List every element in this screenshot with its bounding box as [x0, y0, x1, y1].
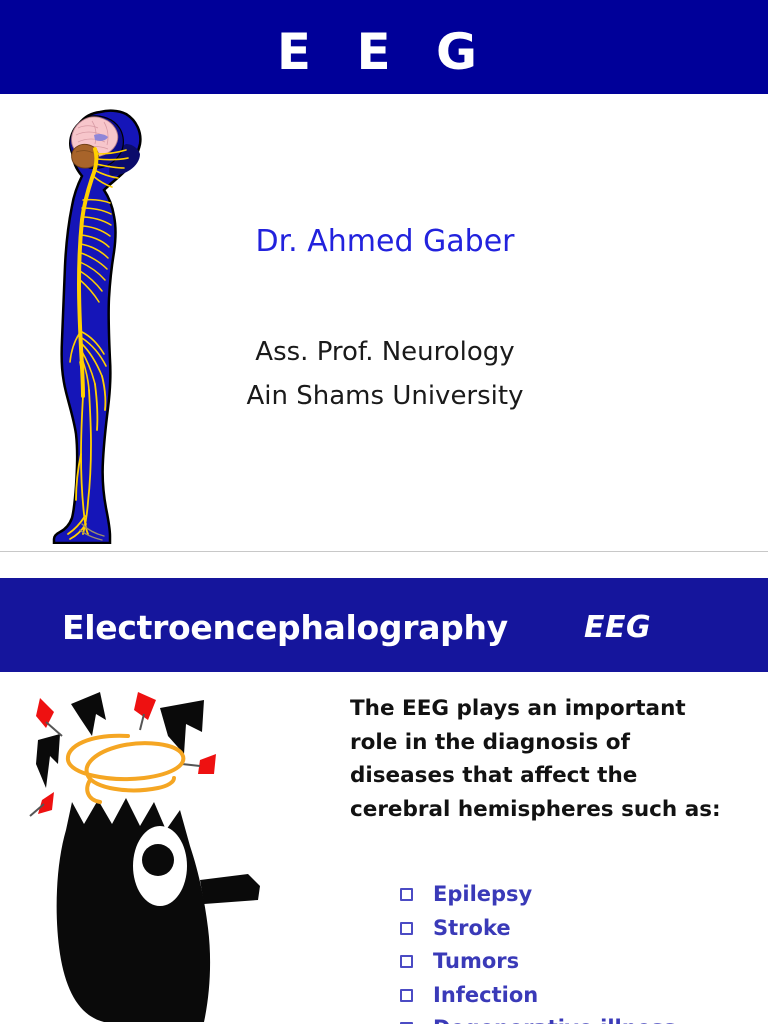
list-item-label: Degenerative illness	[433, 1012, 676, 1024]
head-silhouette	[57, 798, 210, 1022]
shard-top-left	[71, 692, 106, 736]
human-nervous-system-illustration	[52, 104, 162, 544]
shard-left	[36, 734, 60, 788]
list-item-label: Epilepsy	[433, 878, 532, 912]
paragraph-line-2: role in the diagnosis of	[350, 726, 750, 760]
slide-1-author: Dr. Ahmed Gaber	[150, 222, 620, 262]
slide-2-title: Electroencephalography	[62, 608, 508, 647]
paragraph-line-1: The EEG plays an important	[350, 692, 750, 726]
slide-1-title: E E G	[0, 26, 768, 78]
eye-pupil	[142, 844, 174, 876]
list-item: Infection	[400, 979, 760, 1013]
list-item: Stroke	[400, 912, 760, 946]
body-silhouette	[54, 111, 140, 543]
list-item: Epilepsy	[400, 878, 760, 912]
paragraph-line-4: cerebral hemispheres such as:	[350, 793, 750, 827]
slide-1-affiliation: Ass. Prof. Neurology Ain Shams Universit…	[150, 330, 620, 418]
exploding-head-svg	[8, 684, 308, 1024]
nervous-system-svg	[52, 104, 162, 544]
slide-2-bullet-list: Epilepsy Stroke Tumors Infection Degener…	[400, 878, 760, 1024]
list-item: Degenerative illness	[400, 1012, 760, 1024]
slide-2: Electroencephalography EEG	[0, 552, 768, 1024]
affiliation-line-2: Ain Shams University	[150, 374, 620, 418]
presentation-page: E E G	[0, 0, 768, 1024]
hollow-square-bullet-icon	[400, 955, 413, 968]
affiliation-line-1: Ass. Prof. Neurology	[150, 330, 620, 374]
list-item: Tumors	[400, 945, 760, 979]
hollow-square-bullet-icon	[400, 888, 413, 901]
nose	[200, 874, 260, 904]
list-item-label: Tumors	[433, 945, 519, 979]
paragraph-line-3: diseases that affect the	[350, 759, 750, 793]
slide-1: E E G	[0, 0, 768, 552]
orange-swirl	[68, 736, 183, 802]
slide-2-title-abbreviation: EEG	[584, 610, 651, 645]
hollow-square-bullet-icon	[400, 989, 413, 1002]
slide-2-paragraph: The EEG plays an important role in the d…	[350, 692, 750, 826]
hollow-square-bullet-icon	[400, 922, 413, 935]
list-item-label: Stroke	[433, 912, 511, 946]
list-item-label: Infection	[433, 979, 538, 1013]
exploding-head-clipart	[8, 684, 308, 1024]
